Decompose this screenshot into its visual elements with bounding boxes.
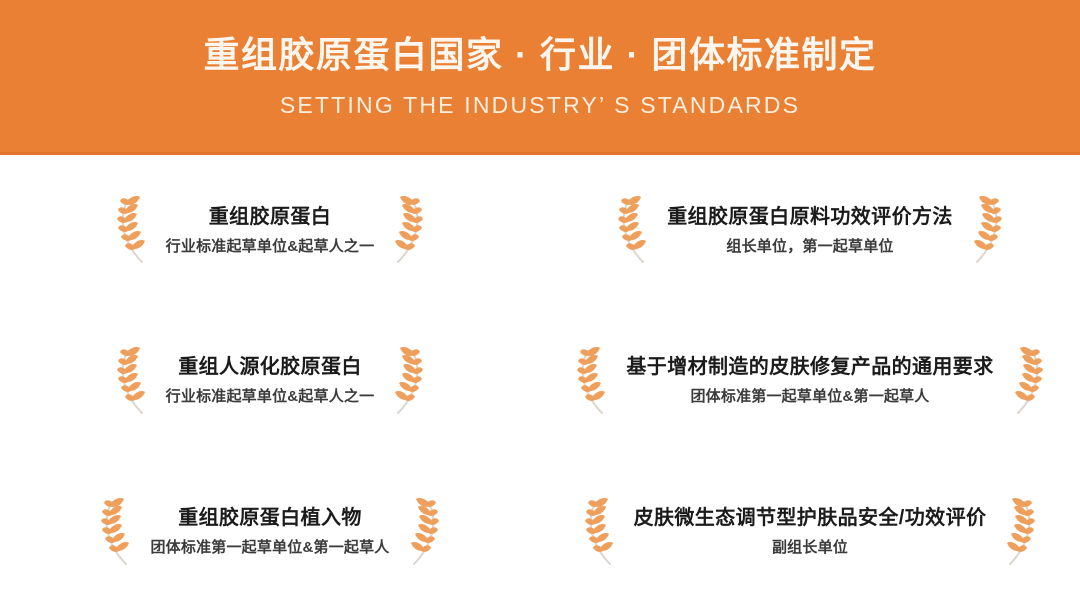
standards-grid: 重组胶原蛋白 行业标准起草单位&起草人之一 [0, 155, 1080, 607]
standard-card-title: 重组胶原蛋白原料功效评价方法 [667, 203, 953, 231]
standard-card-text: 基于增材制造的皮肤修复产品的通用要求 团体标准第一起草单位&第一起草人 [620, 353, 999, 408]
wheat-branch-left-icon [96, 493, 138, 571]
standard-card: 重组胶原蛋白原料功效评价方法 组长单位，第一起草单位 [540, 155, 1080, 306]
standard-card: 重组人源化胶原蛋白 行业标准起草单位&起草人之一 [0, 306, 540, 457]
standard-card-text: 重组胶原蛋白植入物 团体标准第一起草单位&第一起草人 [144, 504, 395, 559]
standard-card-text: 重组人源化胶原蛋白 行业标准起草单位&起草人之一 [160, 353, 381, 408]
standard-card-title: 基于增材制造的皮肤修复产品的通用要求 [626, 353, 993, 381]
standard-card-title: 重组胶原蛋白 [209, 203, 331, 231]
standard-card-text: 重组胶原蛋白 行业标准起草单位&起草人之一 [160, 203, 381, 258]
wheat-branch-right-icon [386, 191, 428, 269]
standard-card-text: 皮肤微生态调节型护肤品安全/功效评价 副组长单位 [628, 504, 993, 559]
standard-card-inner: 重组胶原蛋白植入物 团体标准第一起草单位&第一起草人 [96, 493, 443, 571]
wheat-branch-right-icon [1006, 342, 1048, 420]
wheat-branch-right-icon [386, 342, 428, 420]
standard-card-subtitle: 行业标准起草单位&起草人之一 [166, 236, 375, 258]
standard-card-text: 重组胶原蛋白原料功效评价方法 组长单位，第一起草单位 [661, 203, 959, 258]
standard-card-inner: 皮肤微生态调节型护肤品安全/功效评价 副组长单位 [580, 493, 1041, 571]
page-title: 重组胶原蛋白国家 · 行业 · 团体标准制定 [204, 32, 877, 78]
wheat-branch-left-icon [112, 191, 154, 269]
slide-root: 重组胶原蛋白国家 · 行业 · 团体标准制定 SETTING THE INDUS… [0, 0, 1080, 607]
standard-card-subtitle: 行业标准起草单位&起草人之一 [166, 386, 375, 408]
wheat-branch-right-icon [402, 493, 444, 571]
standard-card-subtitle: 团体标准第一起草单位&第一起草人 [150, 537, 389, 559]
wheat-branch-left-icon [112, 342, 154, 420]
standard-card-inner: 重组胶原蛋白原料功效评价方法 组长单位，第一起草单位 [613, 191, 1007, 269]
standard-card-subtitle: 副组长单位 [772, 537, 848, 559]
standard-card: 基于增材制造的皮肤修复产品的通用要求 团体标准第一起草单位&第一起草人 [540, 306, 1080, 457]
standard-card-title: 重组胶原蛋白植入物 [178, 504, 362, 532]
standard-card: 重组胶原蛋白 行业标准起草单位&起草人之一 [0, 155, 540, 306]
wheat-branch-right-icon [998, 493, 1040, 571]
standard-card-title: 重组人源化胶原蛋白 [178, 353, 362, 381]
header-banner: 重组胶原蛋白国家 · 行业 · 团体标准制定 SETTING THE INDUS… [0, 0, 1080, 155]
standard-card: 重组胶原蛋白植入物 团体标准第一起草单位&第一起草人 [0, 456, 540, 607]
standard-card-inner: 重组人源化胶原蛋白 行业标准起草单位&起草人之一 [112, 342, 429, 420]
standard-card: 皮肤微生态调节型护肤品安全/功效评价 副组长单位 [540, 456, 1080, 607]
page-subtitle: SETTING THE INDUSTRY’ S STANDARDS [280, 90, 800, 120]
wheat-branch-left-icon [613, 191, 655, 269]
wheat-branch-left-icon [580, 493, 622, 571]
standard-card-subtitle: 组长单位，第一起草单位 [726, 236, 893, 258]
wheat-branch-right-icon [965, 191, 1007, 269]
standard-card-title: 皮肤微生态调节型护肤品安全/功效评价 [634, 504, 987, 532]
wheat-branch-left-icon [572, 342, 614, 420]
standard-card-subtitle: 团体标准第一起草单位&第一起草人 [690, 386, 929, 408]
standard-card-inner: 基于增材制造的皮肤修复产品的通用要求 团体标准第一起草单位&第一起草人 [572, 342, 1047, 420]
standard-card-inner: 重组胶原蛋白 行业标准起草单位&起草人之一 [112, 191, 429, 269]
